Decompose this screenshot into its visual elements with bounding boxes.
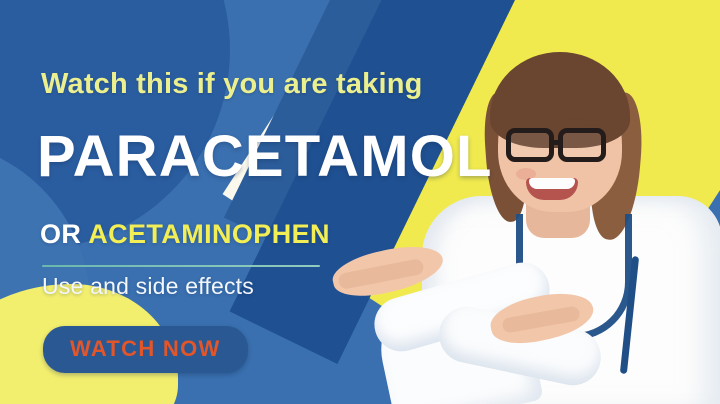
divider — [42, 265, 320, 267]
page-title: PARACETAMOL — [37, 128, 493, 186]
subtitle: OR ACETAMINOPHEN — [40, 219, 330, 250]
video-thumbnail: Watch this if you are taking PARACETAMOL… — [0, 0, 720, 404]
watch-now-button[interactable]: WATCH NOW — [43, 326, 248, 373]
subtitle-prefix: OR — [40, 219, 88, 249]
text-content: Watch this if you are taking PARACETAMOL… — [0, 0, 720, 404]
kicker-text: Watch this if you are taking — [41, 68, 423, 101]
subtitle-highlight: ACETAMINOPHEN — [88, 219, 330, 249]
tagline-text: Use and side effects — [42, 273, 254, 300]
